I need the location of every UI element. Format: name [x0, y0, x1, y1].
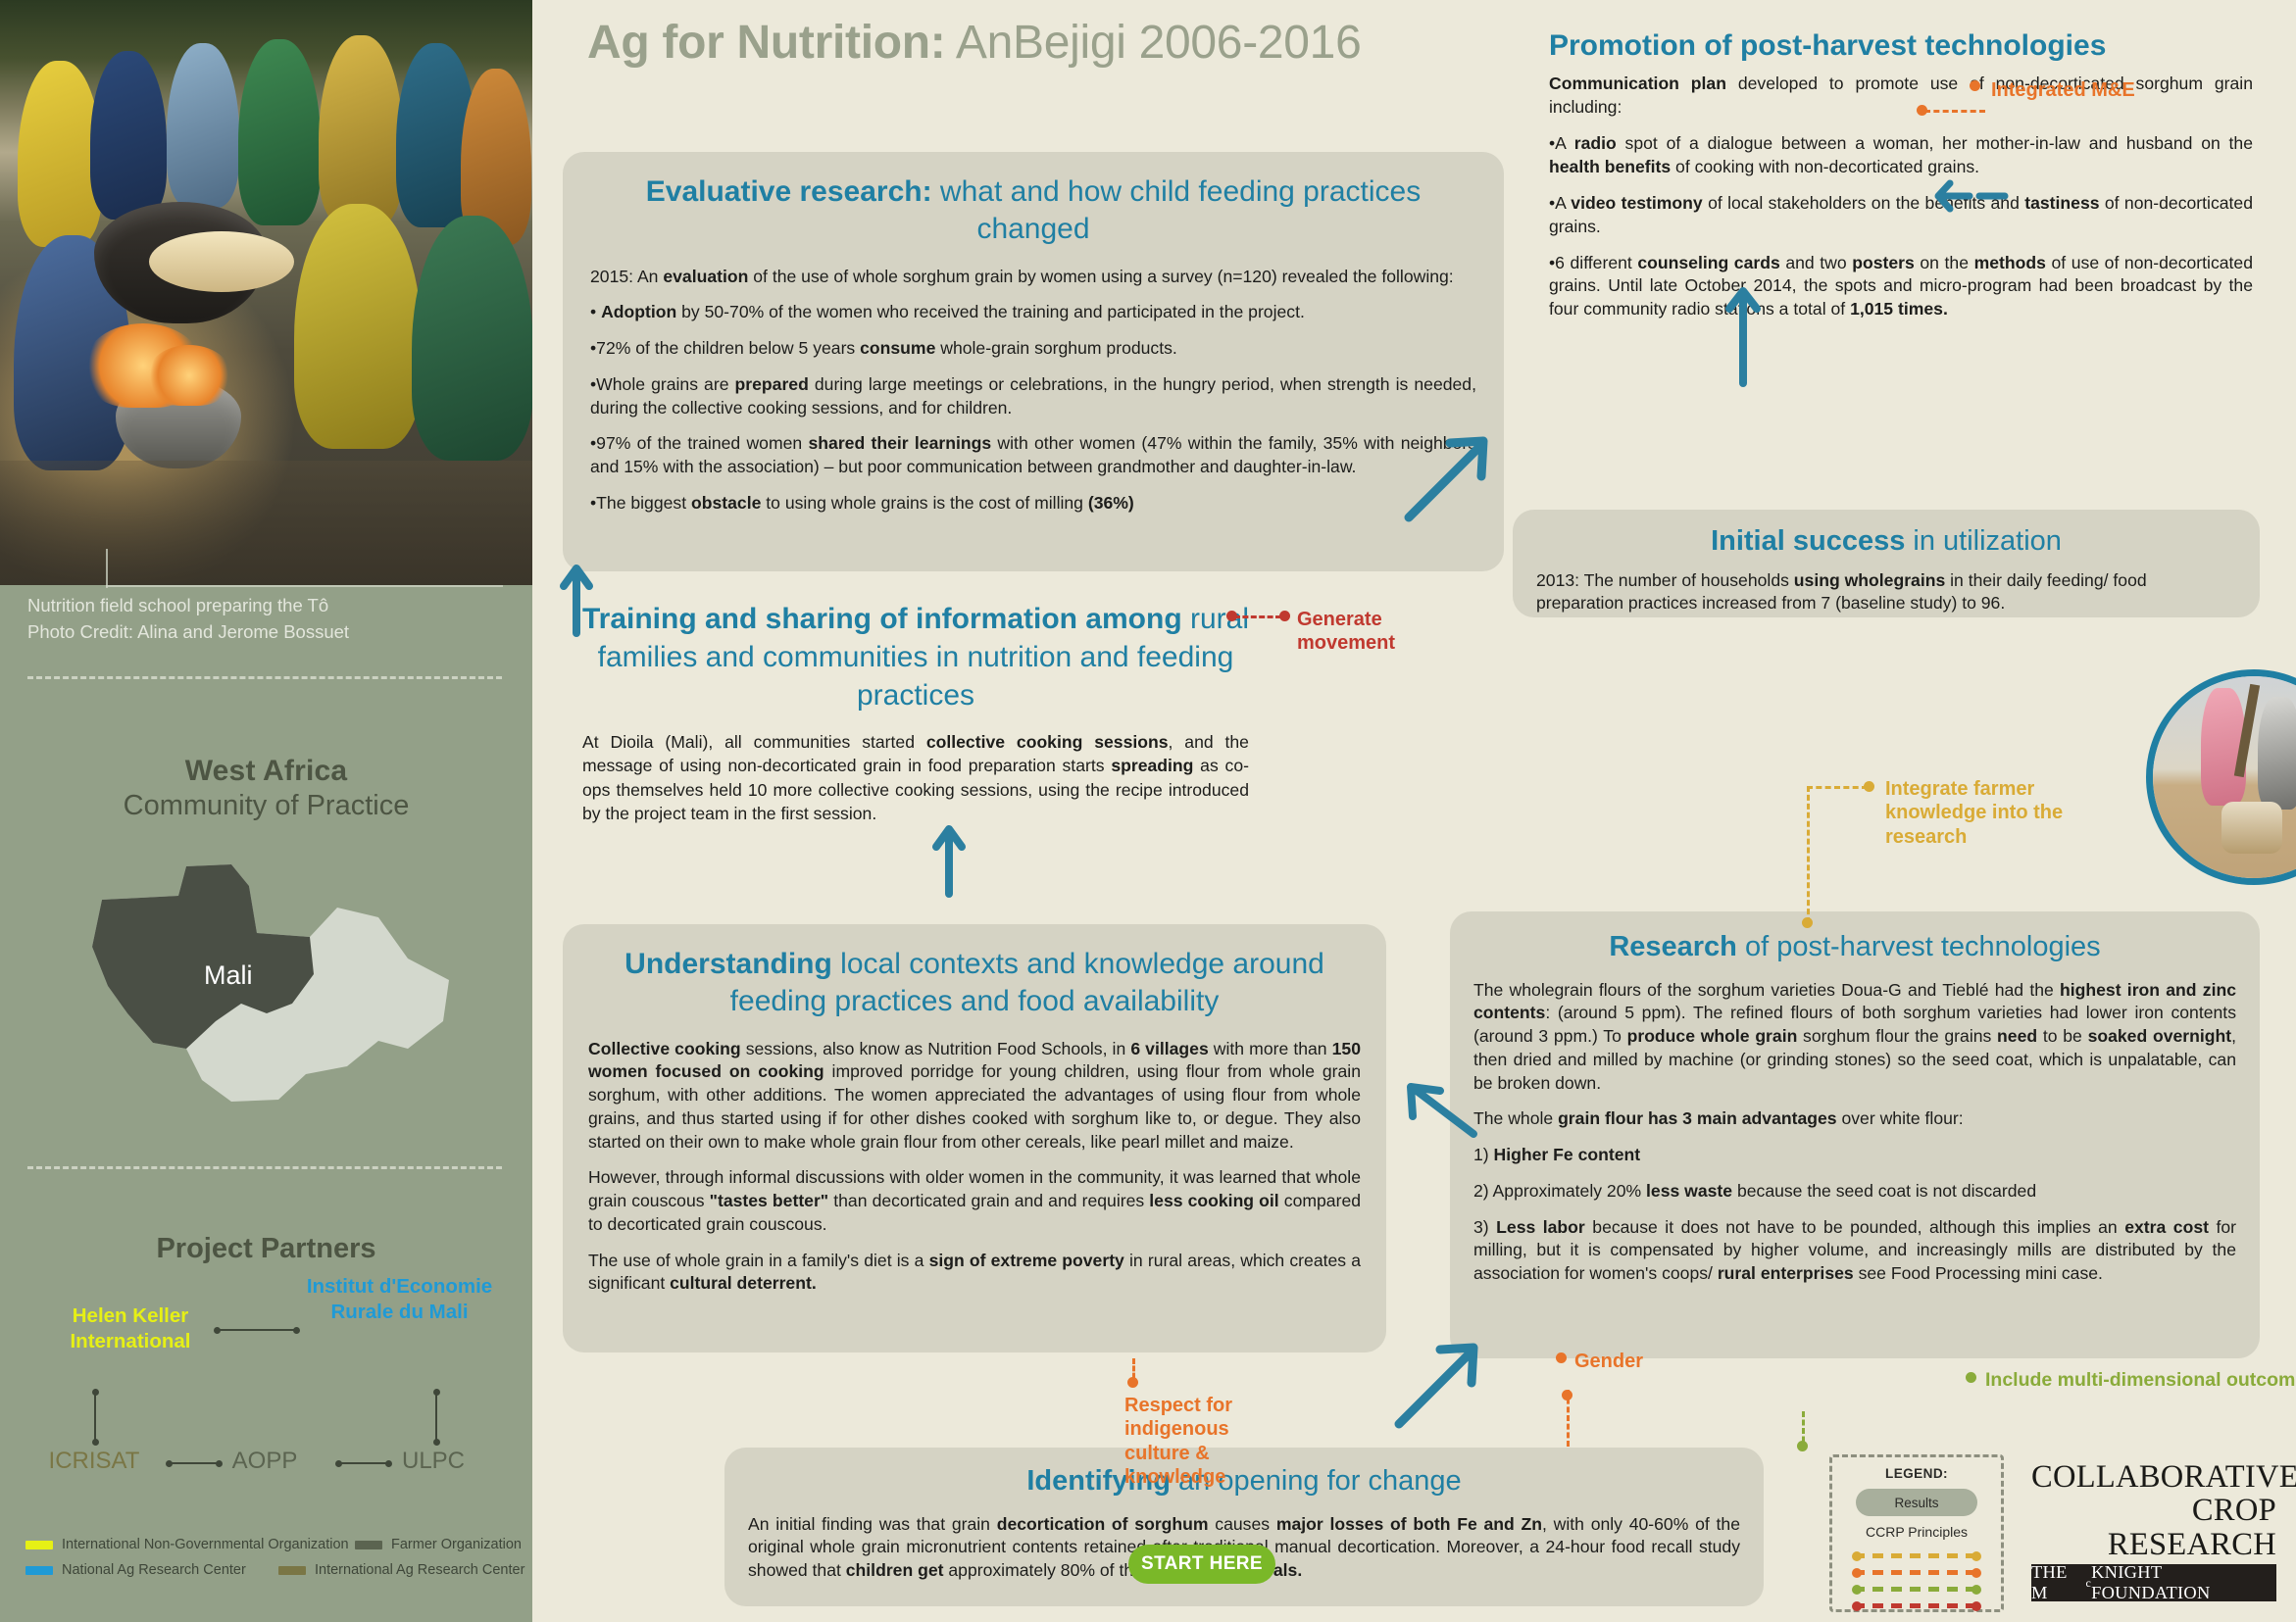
key-item-farmer-org: Farmer Organization: [355, 1537, 522, 1552]
sidebar-divider-bottom: [27, 1166, 502, 1169]
swatch-farmer-org: [355, 1541, 382, 1549]
annotation-dot2-gender: [1562, 1390, 1572, 1401]
connector-aopp-ulpc: [338, 1462, 389, 1464]
swatch-ingo: [25, 1541, 53, 1549]
partner-ulpc: ULPC: [345, 1447, 522, 1476]
page-title-bold: Ag for Nutrition:: [587, 17, 945, 69]
annotation-line-integrated-me: [1924, 110, 1985, 113]
annotation-dot-gender: [1556, 1352, 1567, 1363]
partner-icrisat: ICRISAT: [6, 1447, 182, 1476]
card-research-p2: The whole grain flour has 3 main advanta…: [1473, 1107, 2236, 1131]
annotation-dot-include-outcomes: [1966, 1372, 1976, 1383]
card-research-heading-rest: of post-harvest technologies: [1737, 931, 2101, 962]
key-item-international-ag: International Ag Research Center: [278, 1562, 524, 1578]
partners-title: Project Partners: [0, 1233, 532, 1265]
start-here-button[interactable]: START HERE: [1128, 1545, 1275, 1584]
page-title: Ag for Nutrition: AnBejigi 2006-2016: [587, 16, 1361, 70]
annotation-include-outcomes: Include multi-dimensional outcomes: [1985, 1369, 2296, 1393]
connector-ier-ulpc: [435, 1392, 437, 1443]
key-item-ingo: International Non-Governmental Organizat…: [25, 1537, 349, 1552]
photo-caption: Nutrition field school preparing the Tô …: [27, 593, 498, 646]
card-initial-success: Initial success in utilization 2013: The…: [1513, 510, 2260, 617]
legend-line-red: [1854, 1603, 1979, 1608]
annotation-dot2-include-outcomes: [1797, 1441, 1808, 1451]
poster-root: Nutrition field school preparing the Tô …: [0, 0, 2296, 1622]
page-title-rest: AnBejigi 2006-2016: [945, 17, 1361, 69]
annotation-integrate-farmer-knowledge: Integrate farmer knowledge into the rese…: [1885, 777, 2101, 849]
partner-aopp: AOPP: [176, 1447, 353, 1476]
key-label-international-ag: International Ag Research Center: [315, 1562, 524, 1578]
card-initial-success-body: 2013: The number of households using who…: [1536, 569, 2236, 616]
section-promotion-p3: •A video testimony of local stakeholders…: [1549, 192, 2253, 239]
section-promotion-p4: •6 different counseling cards and two po…: [1549, 252, 2253, 322]
sidebar-divider-top: [27, 676, 502, 679]
swatch-international-ag: [278, 1566, 306, 1575]
key-label-national-ag: National Ag Research Center: [62, 1562, 246, 1578]
annotation-line-generate-movement: [1234, 615, 1281, 618]
key-item-national-ag: National Ag Research Center: [25, 1562, 246, 1578]
sidebar: Nutrition field school preparing the Tô …: [0, 0, 532, 1622]
ccrp-logo-line2: CROP RESEARCH: [2031, 1494, 2276, 1561]
card-evaluative-heading-bold: Evaluative research:: [646, 175, 932, 208]
card-evaluative-intro: 2015: An evaluation of the use of whole …: [590, 266, 1476, 289]
section-promotion: Promotion of post-harvest technologies C…: [1549, 29, 2253, 321]
annotation-dot2-integrate-farmer: [1802, 917, 1813, 928]
card-evaluative-bullet-5: •The biggest obstacle to using whole gra…: [590, 492, 1476, 516]
caption-rule-vertical: [106, 549, 108, 588]
annotation-line-h-integrate-farmer: [1807, 786, 1868, 789]
connector-hki-ier: [217, 1329, 297, 1331]
card-research-p1: The wholegrain flours of the sorghum var…: [1473, 979, 2236, 1096]
card-evaluative-bullet-4: •97% of the trained women shared their l…: [590, 432, 1476, 479]
card-research-p4: 2) Approximately 20% less waste because …: [1473, 1180, 2236, 1204]
card-research-heading: Research of post-harvest technologies: [1473, 929, 2236, 965]
card-evaluative-heading: Evaluative research: what and how child …: [590, 173, 1476, 248]
card-initial-success-heading: Initial success in utilization: [1536, 523, 2236, 560]
annotation-line-v-integrate-farmer: [1807, 786, 1810, 923]
main-content: Ag for Nutrition: AnBejigi 2006-2016 Eva…: [532, 0, 2296, 1622]
card-evaluative-research: Evaluative research: what and how child …: [563, 152, 1504, 571]
legend-line-orange: [1854, 1570, 1979, 1575]
legend-principles-label: CCRP Principles: [1832, 1524, 2001, 1540]
card-research-p3: 1) Higher Fe content: [1473, 1144, 2236, 1167]
section-training-heading: Training and sharing of information amon…: [563, 600, 1269, 714]
flow-arrow-left-top: [1934, 172, 2013, 221]
card-research-heading-bold: Research: [1609, 931, 1737, 962]
field-school-photo: [0, 0, 532, 585]
section-promotion-heading: Promotion of post-harvest technologies: [1549, 29, 2253, 63]
flow-arrow-diagonal-up: [1395, 421, 1503, 529]
mali-map: Mali: [84, 857, 457, 1111]
annotation-integrated-me: Integrated M&E: [1991, 78, 2168, 102]
annotation-dot-integrated-me: [1970, 80, 1980, 91]
section-training-heading-bold: Training and sharing of information amon…: [582, 603, 1182, 635]
pounding-sorghum-photo: [2146, 669, 2296, 885]
card-evaluative-heading-rest: what and how child feeding practices cha…: [932, 175, 1422, 245]
flow-arrow-up-training: [552, 559, 601, 637]
map-label: Mali: [204, 960, 253, 990]
flow-arrow-up-right: [1719, 279, 1768, 387]
partner-helen-keller: Helen Keller International: [27, 1303, 233, 1353]
annotation-dot-respect-indigenous: [1127, 1377, 1138, 1388]
card-initial-success-heading-rest: in utilization: [1905, 525, 2062, 557]
card-understanding-p3: The use of whole grain in a family's die…: [588, 1250, 1361, 1297]
annotation-dot2-generate-movement: [1226, 611, 1237, 621]
card-understanding-p2: However, through informal discussions wi…: [588, 1166, 1361, 1236]
caption-rule: [106, 585, 503, 587]
card-evaluative-bullet-2: •72% of the children below 5 years consu…: [590, 337, 1476, 361]
annotation-respect-indigenous: Respect for indigenous culture & knowled…: [1124, 1394, 1281, 1490]
section-training: Training and sharing of information amon…: [563, 600, 1269, 825]
card-understanding: Understanding local contexts and knowled…: [563, 924, 1386, 1352]
card-understanding-heading: Understanding local contexts and knowled…: [588, 946, 1361, 1020]
annotation-generate-movement: Generate movement: [1297, 608, 1454, 656]
card-initial-success-heading-bold: Initial success: [1711, 525, 1905, 557]
card-research-p5: 3) Less labor because it does not have t…: [1473, 1216, 2236, 1286]
swatch-national-ag: [25, 1566, 53, 1575]
connector-hki-icrisat: [94, 1392, 96, 1443]
mcknight-post: KNIGHT FOUNDATION: [2091, 1562, 2276, 1603]
photo-caption-line2: Photo Credit: Alina and Jerome Bossuet: [27, 619, 498, 646]
partner-ier-mali: Institut d'Economie Rurale du Mali: [294, 1274, 505, 1324]
section-training-body: At Dioila (Mali), all communities starte…: [582, 730, 1249, 825]
annotation-gender: Gender: [1574, 1350, 1692, 1373]
legend-line-gold: [1854, 1553, 1979, 1558]
region-title-line1: West Africa: [0, 755, 532, 788]
card-understanding-heading-bold: Understanding: [624, 948, 832, 980]
card-evaluative-bullet-1: • Adoption by 50-70% of the women who re…: [590, 301, 1476, 324]
legend-title: LEGEND:: [1832, 1466, 2001, 1481]
mcknight-pre: THE M: [2031, 1562, 2085, 1603]
ccrp-logo-line1: COLLABORATIVE: [2031, 1460, 2276, 1494]
region-title: West Africa Community of Practice: [0, 755, 532, 822]
legend-results-chip: Results: [1856, 1489, 1977, 1516]
key-label-farmer-org: Farmer Organization: [391, 1537, 522, 1552]
mcknight-foundation-logo: THE McKNIGHT FOUNDATION: [2031, 1564, 2276, 1601]
photo-caption-line1: Nutrition field school preparing the Tô: [27, 593, 498, 619]
card-evaluative-bullet-3: •Whole grains are prepared during large …: [590, 373, 1476, 420]
card-research: Research of post-harvest technologies Th…: [1450, 911, 2260, 1358]
organization-key: International Non-Governmental Organizat…: [14, 1515, 522, 1609]
region-title-line2: Community of Practice: [0, 790, 532, 822]
connector-icrisat-aopp: [169, 1462, 220, 1464]
flow-arrow-up-understanding: [924, 819, 973, 898]
key-label-ingo: International Non-Governmental Organizat…: [62, 1537, 349, 1552]
legend-box: LEGEND: Results CCRP Principles: [1829, 1454, 2004, 1612]
flow-arrow-diagonal-identifying: [1385, 1328, 1493, 1436]
annotation-dot2-integrated-me: [1917, 105, 1927, 116]
section-promotion-p2: •A radio spot of a dialogue between a wo…: [1549, 132, 2253, 179]
card-understanding-p1: Collective cooking sessions, also know a…: [588, 1038, 1361, 1155]
flow-arrow-left-research: [1395, 1073, 1483, 1152]
legend-line-green: [1854, 1587, 1979, 1592]
